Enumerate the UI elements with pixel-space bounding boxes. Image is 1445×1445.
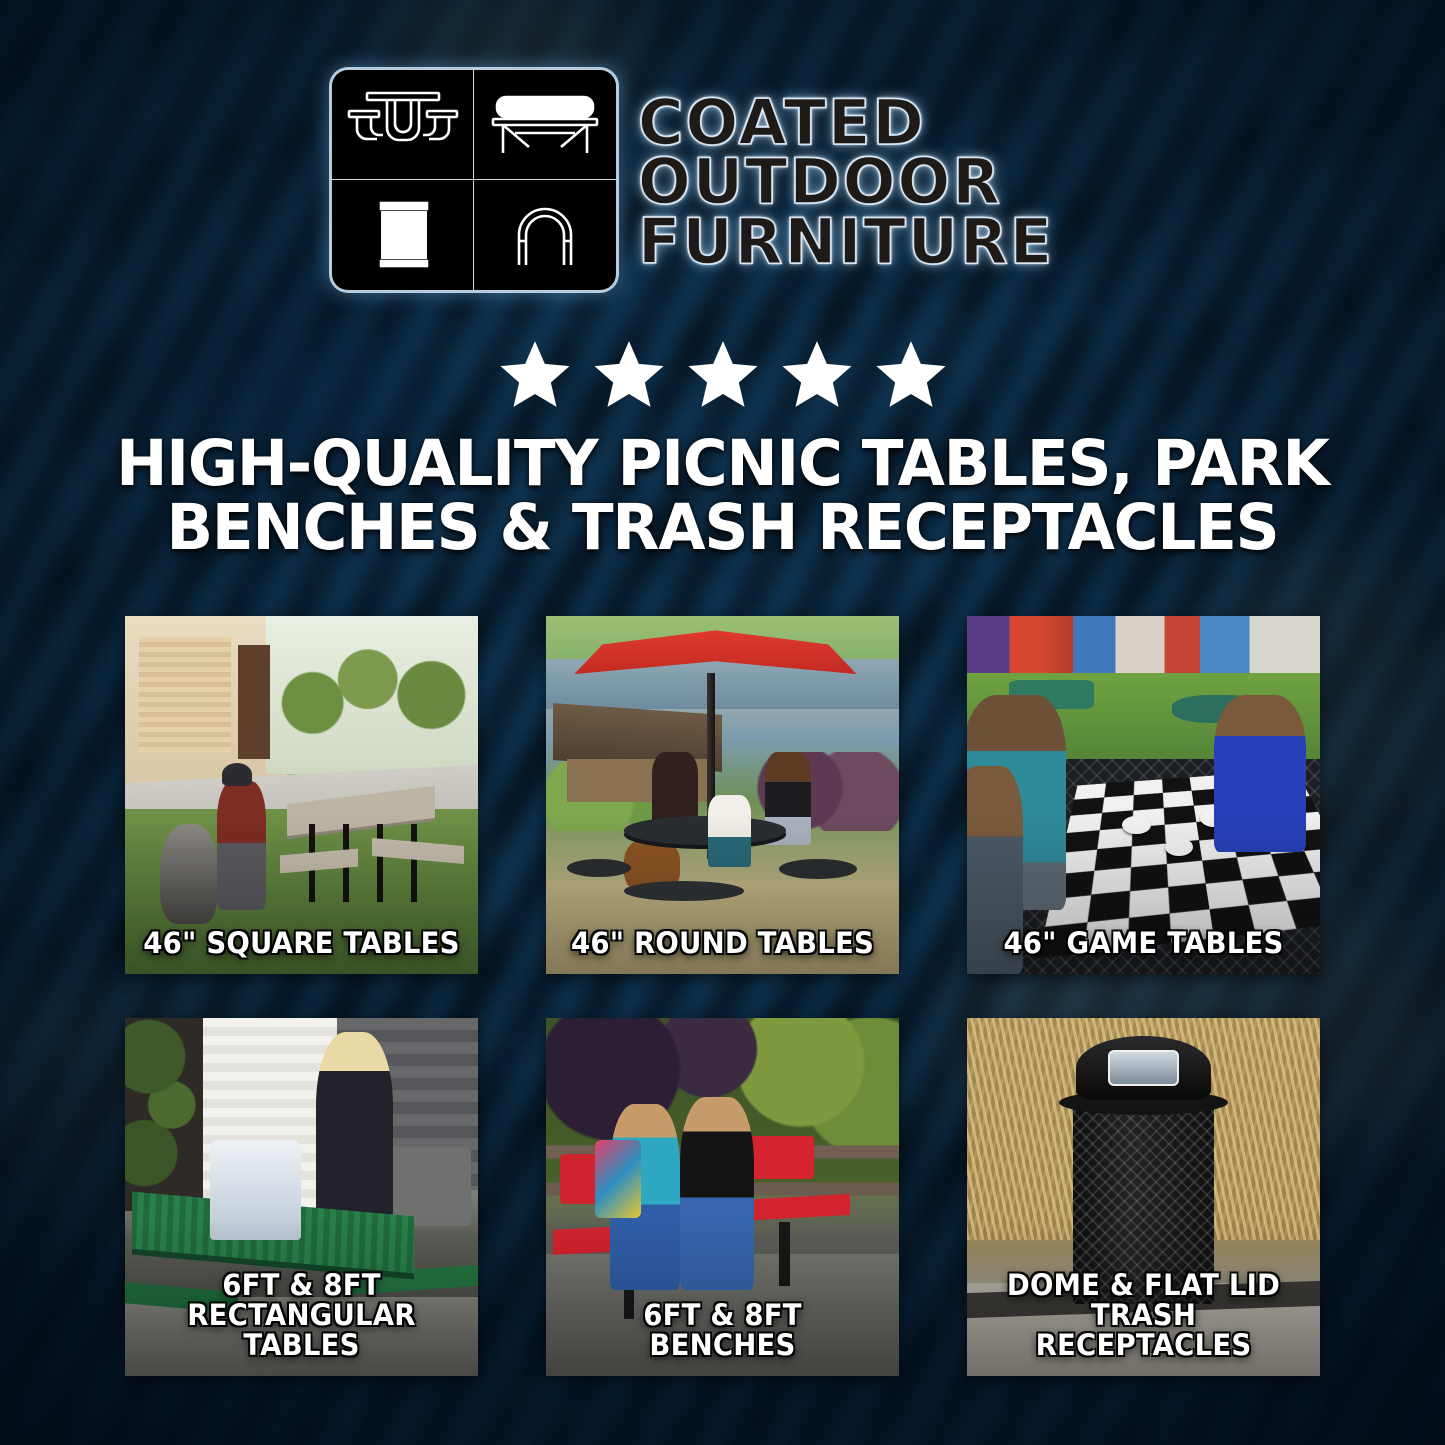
star-icon — [779, 336, 855, 412]
caption-line: 46" ROUND TABLES — [561, 928, 885, 958]
logo-wordmark-line-1: COATED — [638, 93, 1054, 153]
caption-line: 6FT & 8FT — [140, 1270, 464, 1300]
star-icon — [873, 336, 949, 412]
category-photo-game-tables — [967, 616, 1320, 974]
headline-line-1: HIGH-QUALITY PICNIC TABLES, PARK — [80, 432, 1365, 496]
star-icon — [497, 336, 573, 412]
star-icon — [591, 336, 667, 412]
picnic-table-square-icon — [332, 70, 474, 180]
category-tile-rectangular-tables[interactable]: 6FT & 8FT RECTANGULAR TABLES — [125, 1018, 478, 1376]
caption-line: 46" SQUARE TABLES — [140, 928, 464, 958]
caption-line: RECTANGULAR TABLES — [140, 1300, 464, 1360]
category-caption-square-tables: 46" SQUARE TABLES — [140, 928, 464, 958]
star-rating — [0, 336, 1445, 412]
caption-line: 46" GAME TABLES — [982, 928, 1306, 958]
logo-wordmark: COATED OUTDOOR FURNITURE — [638, 89, 1054, 272]
category-tile-trash-receptacles[interactable]: DOME & FLAT LID TRASH RECEPTACLES — [967, 1018, 1320, 1376]
caption-line: 6FT & 8FT — [561, 1300, 885, 1330]
category-tile-round-tables[interactable]: 46" ROUND TABLES — [546, 616, 899, 974]
headline-line-2: BENCHES & TRASH RECEPTACLES — [80, 496, 1365, 560]
category-caption-benches: 6FT & 8FT BENCHES — [561, 1300, 885, 1360]
star-icon — [685, 336, 761, 412]
trash-receptacle-dome-lid-icon — [474, 180, 616, 290]
category-caption-rectangular-tables: 6FT & 8FT RECTANGULAR TABLES — [140, 1270, 464, 1360]
product-category-grid: 46" SQUARE TABLES 46" ROUND TABLES — [125, 616, 1322, 1376]
category-photo-round-tables — [546, 616, 899, 974]
logo-wordmark-line-3: FURNITURE — [638, 212, 1054, 272]
trash-receptacle-flat-lid-icon — [332, 180, 474, 290]
caption-line: TRASH RECEPTACLES — [982, 1300, 1306, 1360]
category-photo-square-tables — [125, 616, 478, 974]
category-tile-game-tables[interactable]: 46" GAME TABLES — [967, 616, 1320, 974]
caption-line: BENCHES — [561, 1330, 885, 1360]
category-caption-round-tables: 46" ROUND TABLES — [561, 928, 885, 958]
category-tile-benches[interactable]: 6FT & 8FT BENCHES — [546, 1018, 899, 1376]
category-caption-game-tables: 46" GAME TABLES — [982, 928, 1306, 958]
category-tile-square-tables[interactable]: 46" SQUARE TABLES — [125, 616, 478, 974]
page-headline: HIGH-QUALITY PICNIC TABLES, PARK BENCHES… — [80, 432, 1365, 561]
brand-logo: COATED OUTDOOR FURNITURE — [332, 70, 1054, 290]
park-bench-icon — [474, 70, 616, 180]
logo-wordmark-line-2: OUTDOOR — [638, 152, 1054, 212]
category-caption-trash-receptacles: DOME & FLAT LID TRASH RECEPTACLES — [982, 1270, 1306, 1360]
caption-line: DOME & FLAT LID — [982, 1270, 1306, 1300]
logo-mark-icon-grid — [332, 70, 616, 290]
